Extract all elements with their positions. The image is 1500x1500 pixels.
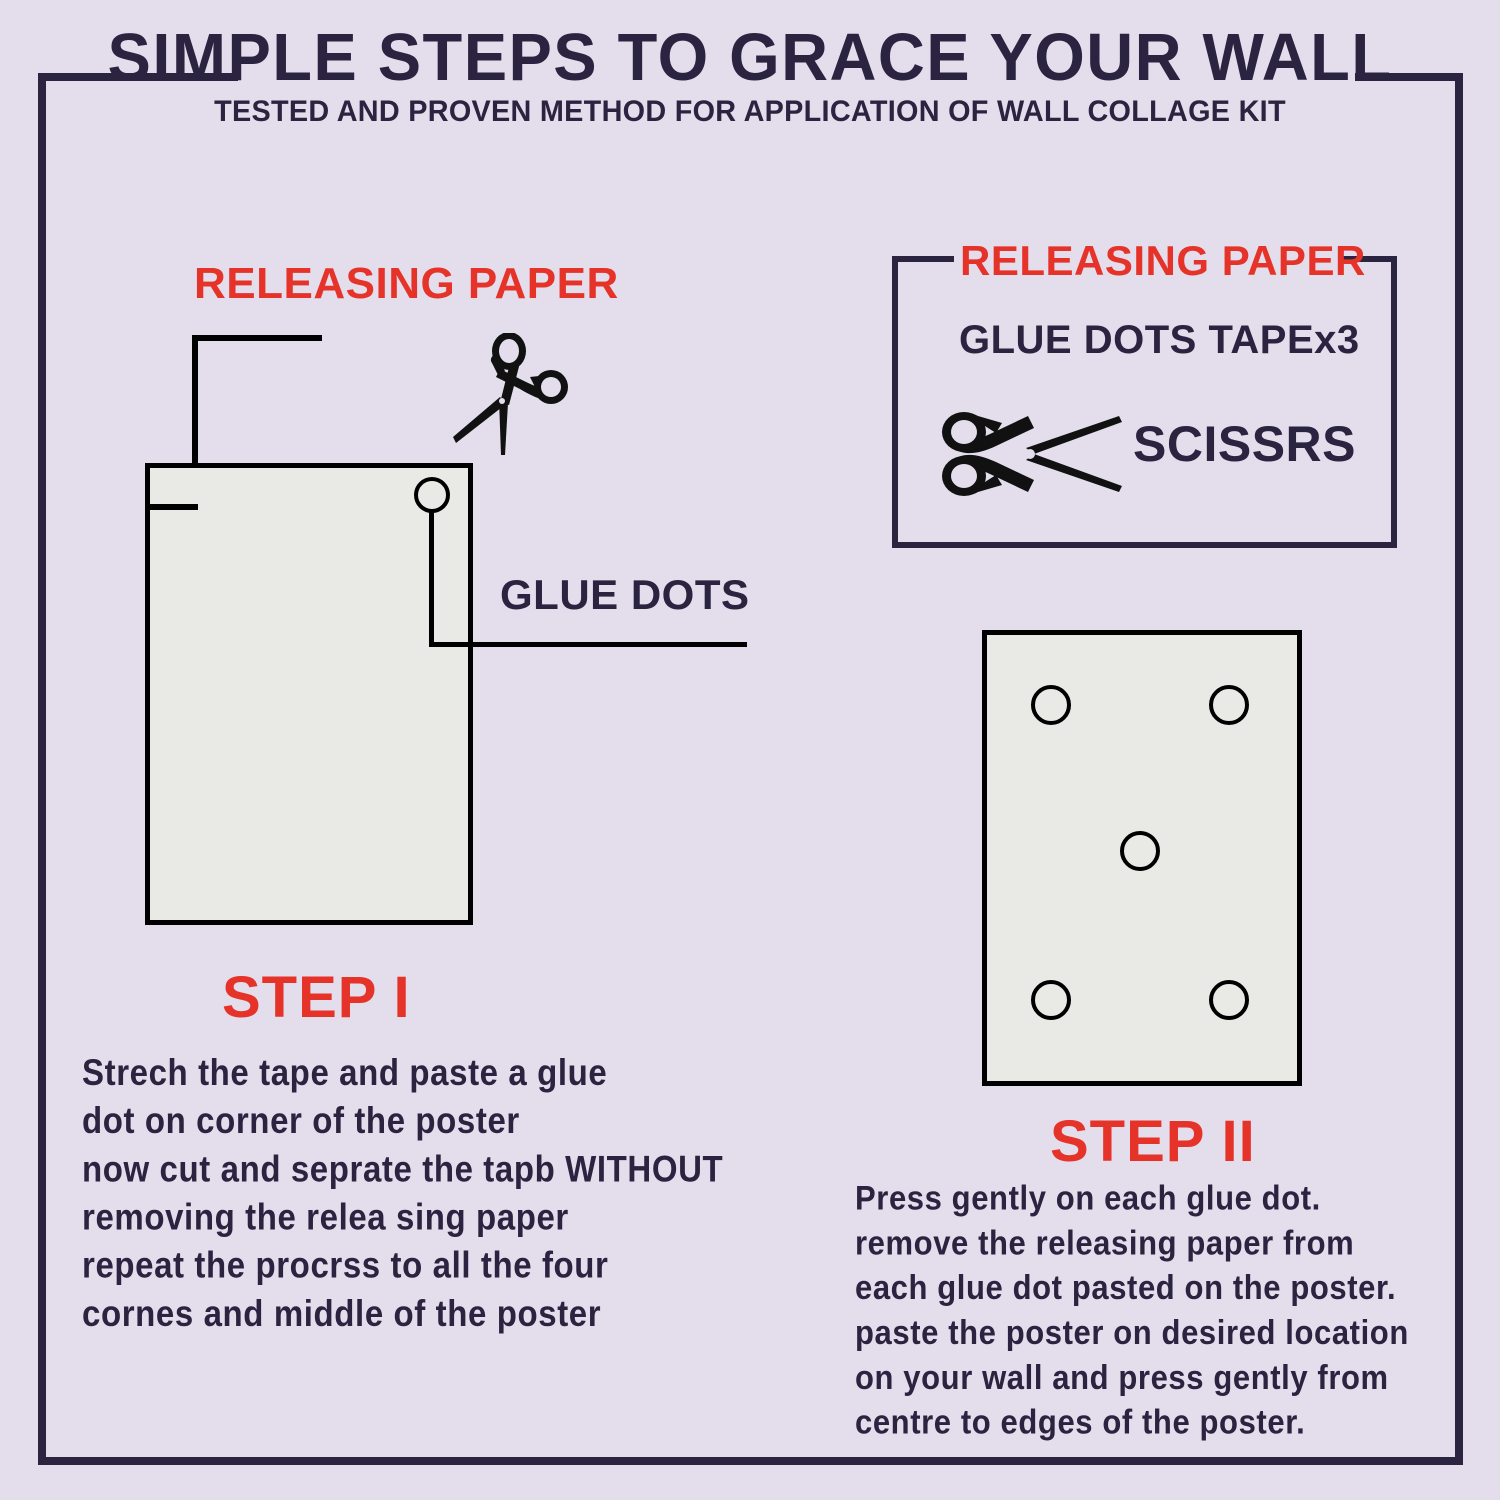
step-one-line: now cut and seprate the tapb WITHOUT [82,1144,723,1192]
glue-dots-leader-horizontal [429,642,747,647]
glue-dot-circle-icon [1120,831,1160,871]
step-two-line: on your wall and press gently from [855,1355,1409,1400]
glue-dot-circle-icon [1209,685,1249,725]
step-one-line: cornes and middle of the poster [82,1289,723,1337]
glue-dot-circle-icon [1031,980,1071,1020]
step-one-line: Strech the tape and paste a glue [82,1048,723,1096]
step-two-line: each glue dot pasted on the poster. [855,1266,1409,1311]
step-one-line: dot on corner of the poster [82,1096,723,1144]
kit-box-border-right [1391,256,1397,548]
kit-item-scissors-label: SCISSRS [1133,422,1356,466]
infographic-canvas: SIMPLE STEPS TO GRACE YOUR WALL TESTED A… [0,0,1500,1500]
page-title: SIMPLE STEPS TO GRACE YOUR WALL [23,23,1478,93]
releasing-paper-corner-notch [148,504,198,510]
glue-dot-circle-icon [1031,685,1071,725]
step-two-line: paste the poster on desired location [855,1310,1409,1355]
releasing-paper-label-left: RELEASING PAPER [194,261,619,307]
glue-dots-leader-vertical [429,512,434,647]
step-one-line: repeat the procrss to all the four [82,1241,723,1289]
kit-box-border-bottom [892,542,1397,548]
kit-box-border-top-left [892,256,954,262]
scissors-icon [452,333,568,457]
step-one-heading: STEP I [222,968,411,1028]
scissors-icon [938,402,1123,506]
step-two-line: remove the releasing paper from [855,1221,1409,1266]
poster-sheet-step-one [145,463,473,925]
kit-item-glue-dots-tape: GLUE DOTS TAPEx3 [959,318,1360,362]
frame-border-left [38,73,46,1465]
step-two-line: centre to edges of the poster. [855,1400,1409,1445]
kit-box-heading: RELEASING PAPER [960,238,1366,284]
page-subtitle: TESTED AND PROVEN METHOD FOR APPLICATION… [30,96,1470,128]
glue-dot-circle-icon [414,477,450,513]
step-two-body: Press gently on each glue dot. remove th… [855,1176,1409,1445]
kit-box-border-left [892,256,898,548]
frame-border-right [1455,73,1463,1465]
poster-sheet-step-two [982,630,1302,1086]
step-one-body: Strech the tape and paste a glue dot on … [82,1048,723,1337]
glue-dots-label: GLUE DOTS [500,573,750,617]
step-one-line: removing the relea sing paper [82,1192,723,1240]
step-two-line: Press gently on each glue dot. [855,1176,1409,1221]
step-two-heading: STEP II [1050,1112,1256,1172]
frame-border-bottom [38,1457,1463,1465]
releasing-paper-leader-horizontal [192,335,322,341]
glue-dot-circle-icon [1209,980,1249,1020]
